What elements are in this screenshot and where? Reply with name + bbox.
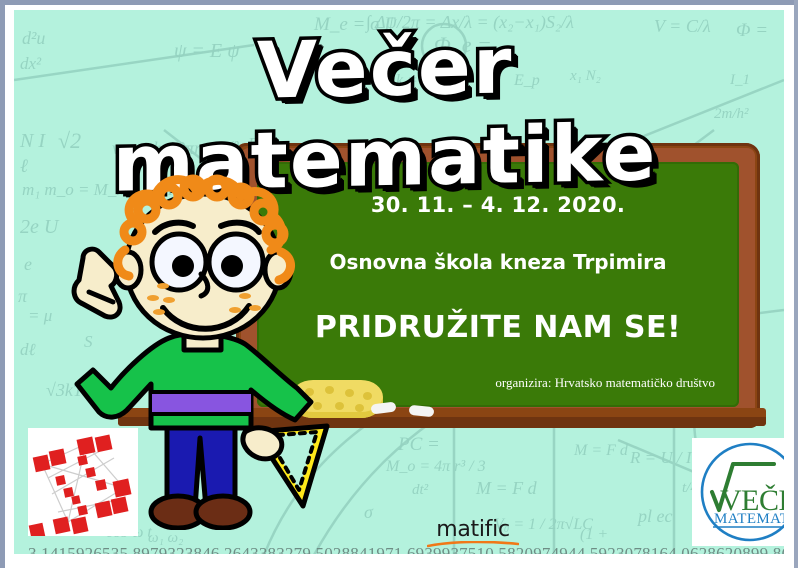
poster-canvas: M_e = σ Γ ψ = E ψ Φ_e = ∫ Δψ/2π = Δx/λ =… <box>0 0 798 568</box>
formula: PC = <box>398 434 440 456</box>
matific-swoosh-icon <box>427 541 519 548</box>
canvas-top-rule <box>0 0 798 5</box>
logo-matematike-text: MATEMATIKE <box>714 511 784 527</box>
formula: R = U / I <box>630 448 692 468</box>
red-squares-graph-logo <box>28 428 138 536</box>
formula: e <box>24 254 32 275</box>
formula: dℓ <box>20 340 36 360</box>
matific-wordmark: matific <box>423 518 523 542</box>
vecer-matematike-logo: VEČER MATEMATIKE <box>692 438 784 546</box>
formula: dt² <box>412 482 428 499</box>
formula: (1 + <box>580 526 608 544</box>
formula: = μ <box>28 306 52 326</box>
formula: π <box>18 286 27 307</box>
formula: M_o = 4π r³ / 3 <box>386 458 486 476</box>
formula: σ <box>364 502 373 523</box>
canvas-right-rule <box>794 0 798 568</box>
formula: pl ec <box>638 506 672 527</box>
formula: 2e U <box>20 216 58 239</box>
formula: M = F d <box>476 478 537 499</box>
formula: M = F d <box>574 442 628 460</box>
pi-digits-strip: 3.1415926535 8979323846 2643383279 50288… <box>28 544 784 554</box>
matific-logo: matific <box>423 518 523 552</box>
